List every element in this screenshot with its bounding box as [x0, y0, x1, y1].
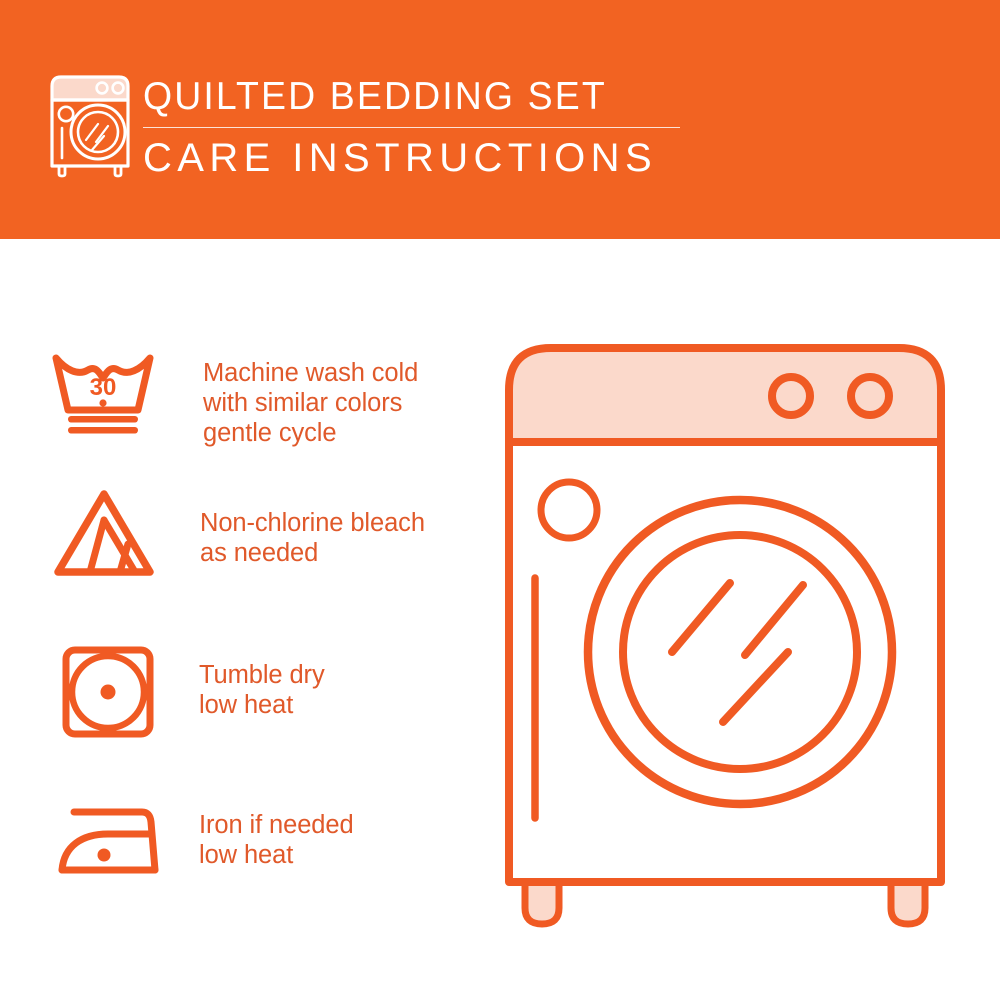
header-banner: QUILTED BEDDING SET CARE INSTRUCTIONS	[0, 0, 1000, 239]
wash-tub-30-gentle-icon: 30	[48, 348, 158, 438]
iron-low-heat-icon	[56, 798, 160, 878]
page-subtitle: CARE INSTRUCTIONS	[143, 134, 688, 182]
page-title: QUILTED BEDDING SET	[143, 74, 666, 120]
care-item-bleach: Non-chlorine bleach as needed	[0, 478, 480, 598]
care-item-iron: Iron if needed low heat	[0, 778, 480, 898]
care-item-iron-label: Iron if needed low heat	[199, 810, 354, 870]
care-item-wash: 30 Machine wash cold with similar colors…	[0, 338, 480, 458]
care-instructions-page: QUILTED BEDDING SET CARE INSTRUCTIONS 30…	[0, 0, 1000, 1000]
triangle-non-chlorine-bleach-icon	[50, 486, 158, 578]
washing-machine-icon	[42, 72, 138, 178]
front-load-washing-machine-illustration	[495, 330, 975, 940]
header-text-block: QUILTED BEDDING SET CARE INSTRUCTIONS	[143, 74, 688, 182]
svg-text:30: 30	[90, 374, 117, 401]
care-item-dry: Tumble dry low heat	[0, 628, 480, 748]
tumble-dry-low-heat-icon	[60, 644, 156, 740]
header-divider	[143, 127, 680, 128]
care-item-bleach-label: Non-chlorine bleach as needed	[200, 508, 425, 568]
care-item-dry-label: Tumble dry low heat	[199, 660, 325, 720]
care-item-wash-label: Machine wash cold with similar colors ge…	[203, 358, 418, 448]
